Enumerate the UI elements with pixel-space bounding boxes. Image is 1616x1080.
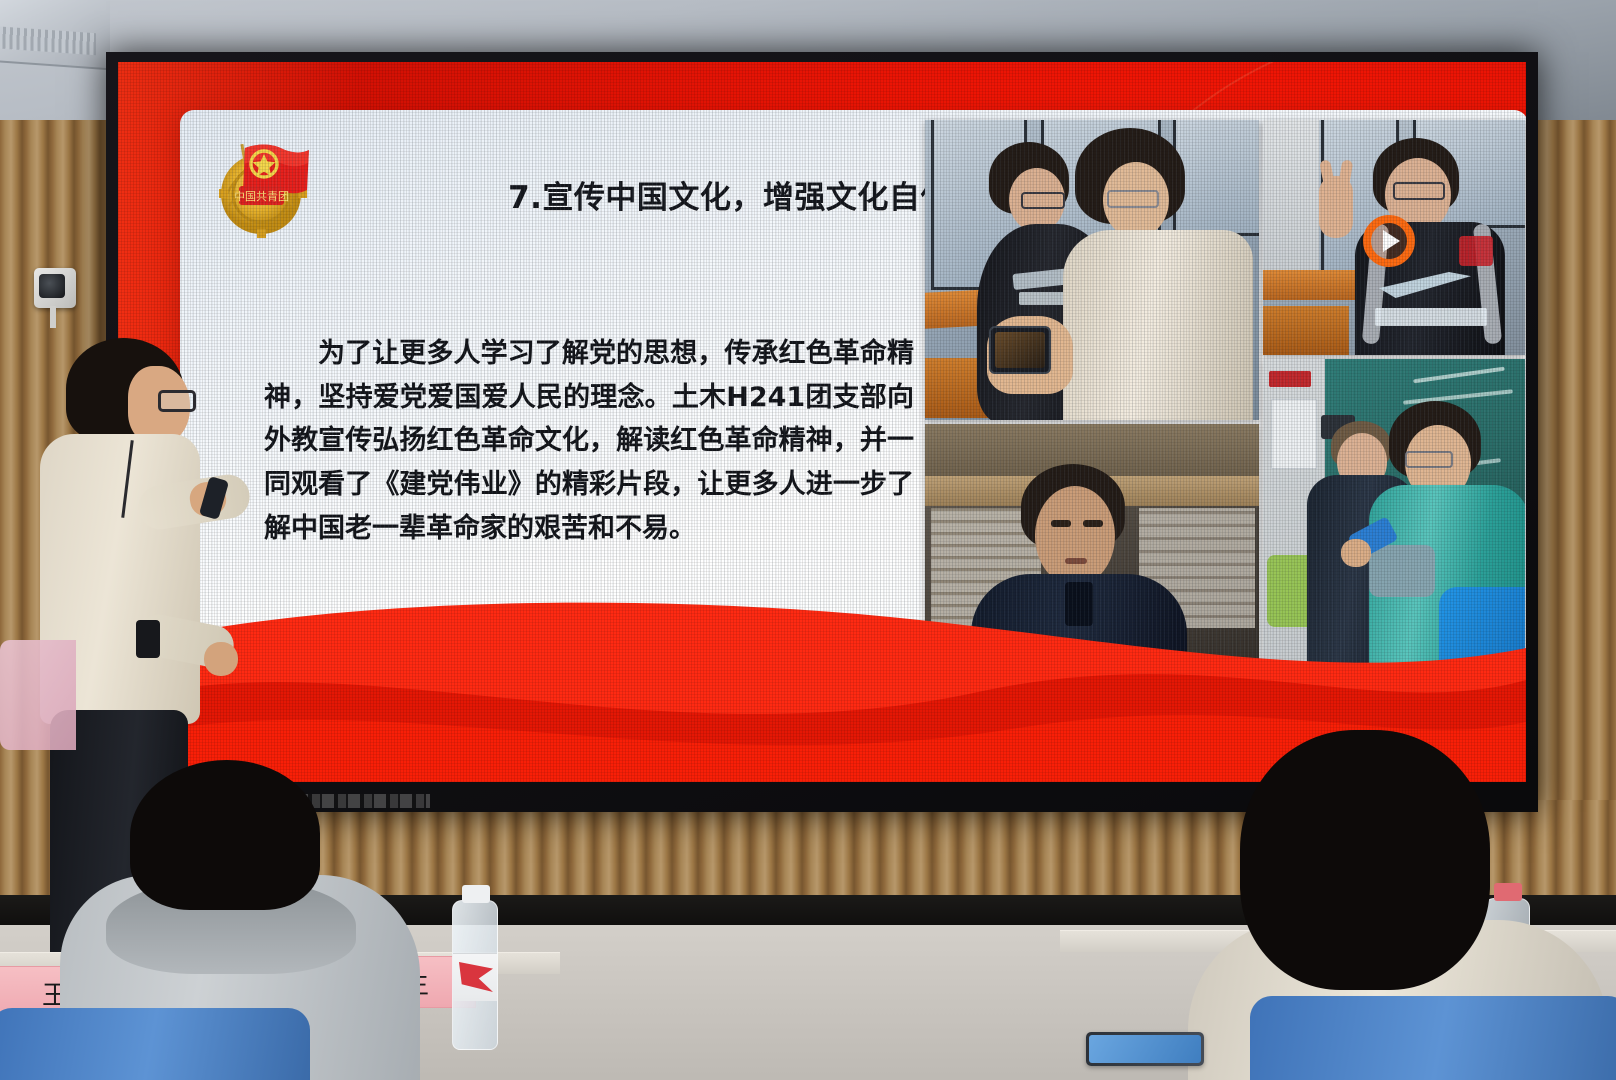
- ceiling-vent: [0, 0, 110, 70]
- led-display-panel: 中国共青团 7.宣传中国文化，增强文化自信 为了让更多人学习了解党的思想，传承红…: [118, 62, 1526, 782]
- communist-youth-league-emblem-icon: 中国共青团: [207, 132, 319, 240]
- photo-bottom-right: [1263, 359, 1525, 686]
- lapel-mic: [136, 620, 160, 658]
- room-scene: 中国共青团 7.宣传中国文化，增强文化自信 为了让更多人学习了解党的思想，传承红…: [0, 0, 1616, 1080]
- tablet-on-table: [1086, 1032, 1204, 1066]
- slide-card: 中国共青团 7.宣传中国文化，增强文化自信 为了让更多人学习了解党的思想，传承红…: [180, 110, 1526, 710]
- photo-bottom-left: [925, 424, 1259, 686]
- camera-icon: [34, 268, 76, 308]
- slide-body-text: 为了让更多人学习了解党的思想，传承红色革命精神，坚持爱党爱国爱人民的理念。土木H…: [264, 332, 914, 551]
- led-display-bezel: 中国共青团 7.宣传中国文化，增强文化自信 为了让更多人学习了解党的思想，传承红…: [106, 52, 1538, 812]
- glasses-icon: [158, 390, 196, 412]
- pink-folder: [0, 640, 76, 750]
- emblem-text: 中国共青团: [234, 190, 289, 203]
- photo-collage: [925, 120, 1525, 686]
- water-bottle-left: [452, 900, 498, 1050]
- chair-front-left: [0, 1008, 310, 1080]
- chair-front-right: [1250, 996, 1616, 1080]
- play-button-icon[interactable]: [1363, 215, 1415, 267]
- photo-top-right: [1263, 120, 1525, 355]
- photo-top-left: [925, 120, 1259, 420]
